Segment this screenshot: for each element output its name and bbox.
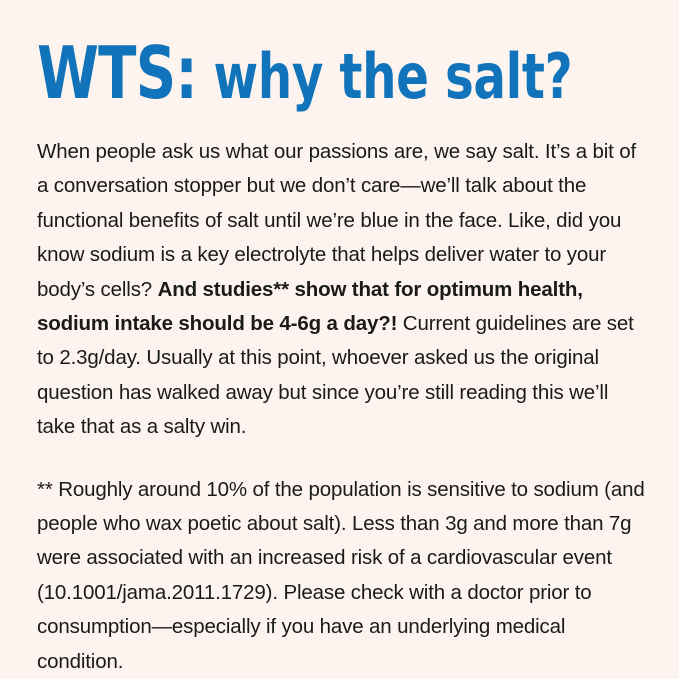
paragraph-footnote-text: ** Roughly around 10% of the population …	[37, 478, 645, 673]
paragraph-intro-part-1: When people ask us what our passions are…	[37, 140, 636, 301]
page-title-lead: WTS:	[37, 31, 197, 115]
product-description-panel: WTS: why the salt? When people ask us wh…	[0, 0, 679, 679]
paragraph-footnote: ** Roughly around 10% of the population …	[37, 445, 650, 679]
page-title-rest: why the salt?	[213, 40, 572, 113]
page-title: WTS: why the salt?	[37, 0, 515, 111]
paragraph-intro: When people ask us what our passions are…	[37, 111, 650, 445]
